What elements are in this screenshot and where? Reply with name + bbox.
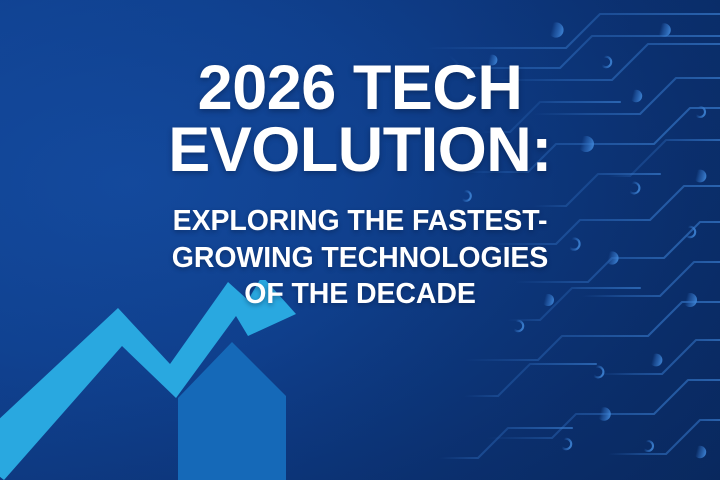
headline-line-1: 2026 TECH bbox=[0, 58, 720, 120]
subheadline-line-3: OF THE DECADE bbox=[0, 276, 720, 312]
subheadline-line-2: GROWING TECHNOLOGIES bbox=[0, 240, 720, 276]
page-subtitle: EXPLORING THE FASTEST- GROWING TECHNOLOG… bbox=[0, 203, 720, 312]
subheadline-line-1: EXPLORING THE FASTEST- bbox=[0, 203, 720, 239]
page-title: 2026 TECH EVOLUTION: bbox=[0, 58, 720, 181]
headline-line-2: EVOLUTION: bbox=[0, 120, 720, 182]
poster-canvas: 2026 TECH EVOLUTION: EXPLORING THE FASTE… bbox=[0, 0, 720, 480]
poster-text-block: 2026 TECH EVOLUTION: EXPLORING THE FASTE… bbox=[0, 0, 720, 313]
